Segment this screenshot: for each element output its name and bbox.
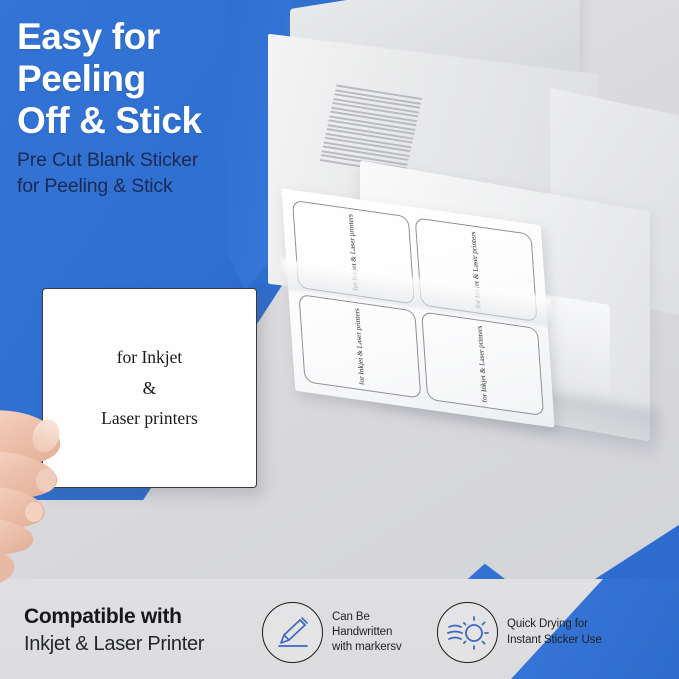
compatibility-subtext: Inkjet & Laser Printer (24, 631, 204, 658)
compatibility-heading: Compatible with (24, 603, 204, 631)
feature-1-line-3: with markersv (332, 640, 402, 655)
sun-airflow-icon (437, 602, 498, 663)
feature-1-line-2: Handwritten (332, 625, 402, 640)
headline-line-3: Off & Stick (17, 100, 202, 142)
sheet-label: for Inkjet & Laser printers (421, 311, 544, 416)
page-title: Easy for Peeling Off & Stick (17, 16, 202, 141)
feature-handwritten-text: Can Be Handwritten with markersv (332, 610, 402, 656)
label-sheet: for Inkjet & Laser printers for Inkjet &… (288, 208, 548, 408)
feature-quick-drying-text: Quick Drying for Instant Sticker Use (507, 617, 602, 648)
feature-2-line-1: Quick Drying for (507, 617, 602, 632)
compatibility-block: Compatible with Inkjet & Laser Printer (24, 603, 204, 658)
held-card-line-2: & (101, 373, 198, 404)
sheet-label-text: for Inkjet & Laser printers (352, 307, 369, 385)
subheadline-line-1: Pre Cut Blank Sticker (17, 148, 198, 174)
pen-writing-icon (262, 602, 323, 663)
headline-line-2: Peeling (17, 58, 202, 100)
sheet-label-text: for Inkjet & Laser printers (474, 325, 491, 403)
feature-2-line-2: Instant Sticker Use (507, 633, 602, 648)
feature-quick-drying: Quick Drying for Instant Sticker Use (437, 602, 602, 663)
page-subtitle: Pre Cut Blank Sticker for Peeling & Stic… (17, 148, 198, 199)
feature-handwritten: Can Be Handwritten with markersv (262, 602, 402, 663)
printer-vent-left (320, 85, 423, 174)
feature-1-line-1: Can Be (332, 610, 402, 625)
held-card-line-1: for Inkjet (101, 342, 198, 373)
sheet-label: for Inkjet & Laser printers (299, 294, 422, 399)
subheadline-line-2: for Peeling & Stick (17, 174, 198, 200)
hand-holding-card (0, 410, 140, 600)
product-infographic: for Inkjet & Laser printers for Inkjet &… (0, 0, 679, 679)
headline-line-1: Easy for (17, 16, 202, 58)
